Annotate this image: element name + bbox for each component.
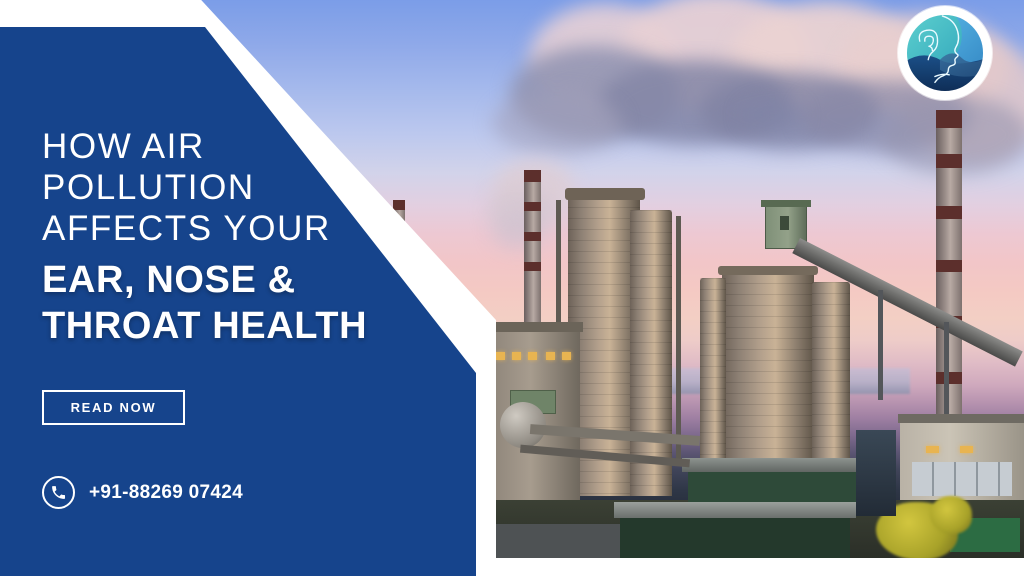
silo-left-top-frame (565, 188, 645, 200)
control-hut-window (780, 216, 789, 230)
hall-roof (898, 414, 1024, 423)
window-lit (562, 352, 571, 360)
phone-icon (42, 476, 75, 509)
building-left-roof (487, 322, 583, 332)
window-lit (512, 352, 521, 360)
silo-center-cap (718, 266, 818, 275)
shed-lower-roof (614, 502, 856, 518)
headline-block: HOW AIR POLLUTION AFFECTS YOUR EAR, NOSE… (42, 126, 442, 349)
read-now-label: READ NOW (71, 400, 157, 415)
contact-phone-row[interactable]: +91-88269 07424 (42, 476, 243, 509)
headline-line-4: EAR, NOSE & (42, 257, 442, 303)
chimney-right (936, 110, 962, 440)
window-lit (496, 352, 505, 360)
window-lit (926, 446, 939, 453)
window-lit (528, 352, 537, 360)
window-lit (546, 352, 555, 360)
headline-line-5: THROAT HEALTH (42, 303, 442, 349)
ent-face-profile-logo[interactable] (898, 6, 992, 100)
shed-lower (620, 512, 850, 558)
read-now-button[interactable]: READ NOW (42, 390, 185, 425)
headline-bold-block: EAR, NOSE & THROAT HEALTH (42, 257, 442, 349)
window-lit (960, 446, 973, 453)
silo-pipe-right (676, 216, 681, 466)
phone-number: +91-88269 07424 (89, 482, 243, 504)
hall-window-grid (912, 462, 1012, 496)
conveyor-support-b (944, 322, 949, 417)
headline-line-3: AFFECTS YOUR (42, 208, 442, 249)
control-hut-roof (761, 200, 811, 207)
conveyor-support-a (878, 290, 883, 400)
tower-structure (856, 430, 896, 516)
silo-left-tall-b (630, 210, 672, 496)
headline-line-1: HOW AIR (42, 126, 442, 167)
promotional-banner: HOW AIR POLLUTION AFFECTS YOUR EAR, NOSE… (0, 0, 1024, 576)
yellow-bush-small (930, 496, 972, 534)
headline-line-2: POLLUTION (42, 167, 442, 208)
